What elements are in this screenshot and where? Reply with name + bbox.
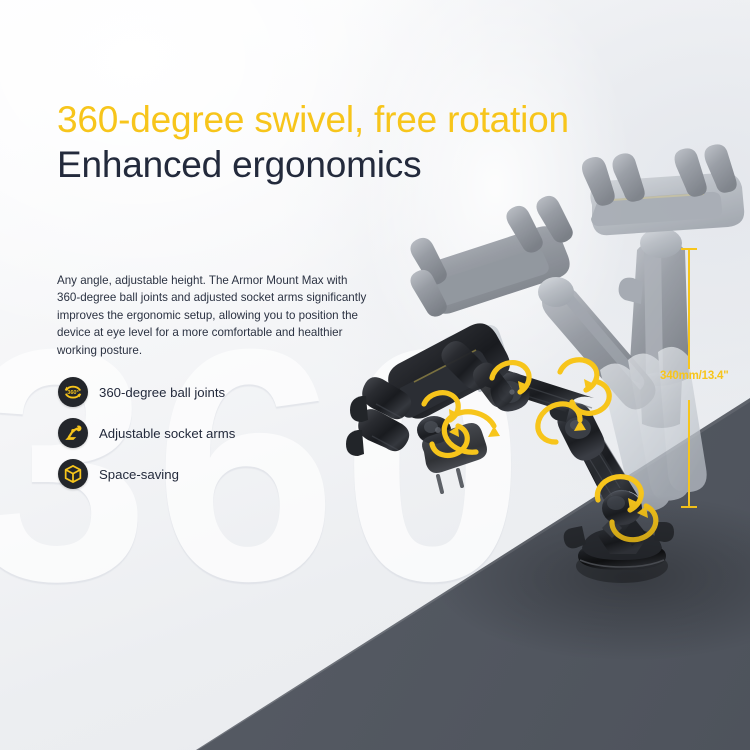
svg-text:360°: 360°: [67, 390, 79, 396]
dimension-line-upper: [688, 249, 690, 369]
headline-primary: 360-degree swivel, free rotation: [57, 99, 569, 141]
feature-label: Adjustable socket arms: [99, 426, 235, 441]
feature-item-ball-joints: 360° 360-degree ball joints: [58, 376, 235, 408]
feature-label: 360-degree ball joints: [99, 385, 225, 400]
feature-label: Space-saving: [99, 467, 179, 482]
dimension-label: 340mm/13.4": [660, 370, 728, 382]
feature-item-space-saving: Space-saving: [58, 458, 235, 490]
robotic-arm-icon: [58, 418, 88, 448]
headline-secondary: Enhanced ergonomics: [57, 144, 421, 186]
feature-item-socket-arms: Adjustable socket arms: [58, 417, 235, 449]
rotate-360-icon: 360°: [58, 377, 88, 407]
body-paragraph: Any angle, adjustable height. The Armor …: [57, 272, 367, 359]
dimension-cap-bottom: [681, 506, 697, 508]
dimension-line-lower: [688, 400, 690, 508]
product-feature-banner: 360: [0, 0, 750, 750]
feature-list: 360° 360-degree ball joints Adjustable s…: [58, 376, 235, 499]
cube-icon: [58, 459, 88, 489]
